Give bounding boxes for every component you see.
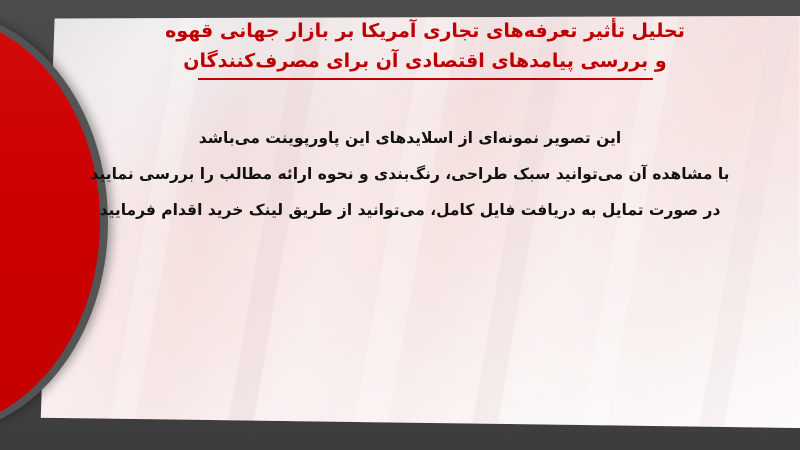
title-line-2: و بررسی پیامدهای اقتصادی آن برای مصرف‌کن… xyxy=(120,46,730,76)
body-line-1: این تصویر نمونه‌ای از اسلایدهای این پاور… xyxy=(80,120,740,156)
presentation-slide: تحلیل تأثیر تعرفه‌های تجاری آمریکا بر با… xyxy=(0,0,800,450)
title-line-1: تحلیل تأثیر تعرفه‌های تجاری آمریکا بر با… xyxy=(120,16,730,46)
body-line-3: در صورت تمایل به دریافت فایل کامل، می‌تو… xyxy=(80,192,740,228)
body-line-2: با مشاهده آن می‌توانید سبک طراحی، رنگ‌بن… xyxy=(80,156,740,192)
slide-body-text: این تصویر نمونه‌ای از اسلایدهای این پاور… xyxy=(80,120,740,228)
slide-title: تحلیل تأثیر تعرفه‌های تجاری آمریکا بر با… xyxy=(120,16,730,80)
title-underline-rule xyxy=(198,78,653,80)
